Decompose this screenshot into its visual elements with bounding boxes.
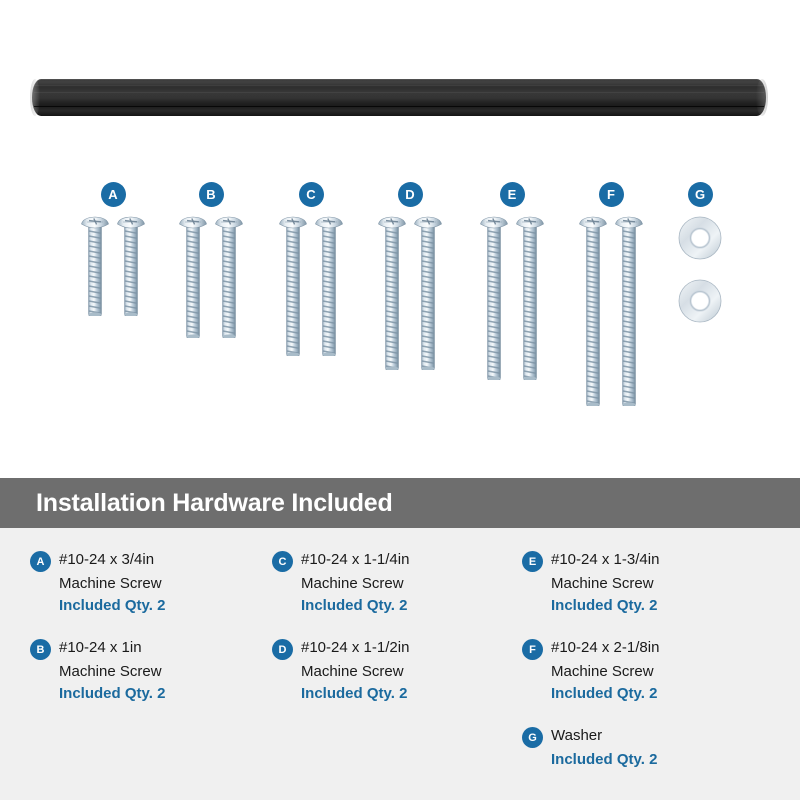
- legend-badge-e: E: [522, 551, 543, 572]
- hardware-parts-row: A: [0, 160, 800, 460]
- screw-pair-e: [462, 215, 562, 385]
- part-badge-a: A: [101, 182, 126, 207]
- legend-badge-g: G: [522, 727, 543, 748]
- legend-badge-c: C: [272, 551, 293, 572]
- washer-icon: [677, 215, 723, 266]
- panel-header: Installation Hardware Included: [0, 478, 800, 528]
- legend-item-head: F#10-24 x 2-1/8in: [522, 638, 777, 660]
- hardware-badge-wrap-d: D: [360, 182, 460, 207]
- hardware-badge-wrap-e: E: [462, 182, 562, 207]
- legend-item-qty: Included Qty. 2: [59, 596, 265, 616]
- bar-highlight-line-top: [34, 85, 764, 86]
- part-badge-d: D: [398, 182, 423, 207]
- part-badge-b: B: [199, 182, 224, 207]
- machine-screw-icon: [614, 215, 644, 411]
- legend-item-d: D#10-24 x 1-1/2inMachine ScrewIncluded Q…: [272, 638, 517, 704]
- legend-item-size: #10-24 x 2-1/8in: [551, 638, 659, 658]
- hardware-badge-wrap-b: B: [161, 182, 261, 207]
- legend-item-g: GWasherIncluded Qty. 2: [522, 726, 777, 770]
- legend-item-head: GWasher: [522, 726, 777, 748]
- legend-badge-d: D: [272, 639, 293, 660]
- legend-item-b: B#10-24 x 1inMachine ScrewIncluded Qty. …: [30, 638, 265, 704]
- screw-pair-d: [360, 215, 460, 375]
- panel-title: Installation Hardware Included: [36, 489, 393, 518]
- machine-screw-icon: [314, 215, 344, 361]
- legend-item-head: B#10-24 x 1in: [30, 638, 265, 660]
- legend-item-head: A#10-24 x 3/4in: [30, 550, 265, 572]
- legend-item-size: #10-24 x 1-1/2in: [301, 638, 409, 658]
- machine-screw-icon: [578, 215, 608, 411]
- installation-hardware-panel: Installation Hardware Included A#10-24 x…: [0, 478, 800, 800]
- hardware-badge-wrap-g: G: [650, 182, 750, 207]
- legend-item-type: Machine Screw: [59, 574, 265, 594]
- washer-icon: [677, 278, 723, 329]
- legend-badge-f: F: [522, 639, 543, 660]
- legend-column-2: C#10-24 x 1-1/4inMachine ScrewIncluded Q…: [272, 550, 517, 726]
- legend-item-head: C#10-24 x 1-1/4in: [272, 550, 517, 572]
- bar-seam-line: [34, 106, 764, 107]
- screw-pair-b: [161, 215, 261, 343]
- legend-item-qty: Included Qty. 2: [301, 596, 517, 616]
- hardware-badge-wrap-f: F: [561, 182, 661, 207]
- panel-body: A#10-24 x 3/4inMachine ScrewIncluded Qty…: [0, 528, 800, 800]
- machine-screw-icon: [278, 215, 308, 361]
- hardware-badge-wrap-c: C: [261, 182, 361, 207]
- machine-screw-icon: [479, 215, 509, 385]
- legend-item-e: E#10-24 x 1-3/4inMachine ScrewIncluded Q…: [522, 550, 777, 616]
- legend-item-qty: Included Qty. 2: [59, 684, 265, 704]
- legend-item-type: Machine Screw: [551, 662, 777, 682]
- legend-item-qty: Included Qty. 2: [551, 596, 777, 616]
- legend-item-type: Machine Screw: [551, 574, 777, 594]
- legend-item-size: #10-24 x 1-1/4in: [301, 550, 409, 570]
- legend-item-type: Machine Screw: [301, 662, 517, 682]
- machine-screw-icon: [413, 215, 443, 375]
- legend-item-c: C#10-24 x 1-1/4inMachine ScrewIncluded Q…: [272, 550, 517, 616]
- legend-badge-a: A: [30, 551, 51, 572]
- machine-screw-icon: [116, 215, 146, 321]
- legend-badge-b: B: [30, 639, 51, 660]
- screw-pair-c: [261, 215, 361, 361]
- machine-screw-icon: [214, 215, 244, 343]
- legend-item-head: D#10-24 x 1-1/2in: [272, 638, 517, 660]
- part-badge-e: E: [500, 182, 525, 207]
- part-badge-c: C: [299, 182, 324, 207]
- machine-screw-icon: [515, 215, 545, 385]
- machine-screw-icon: [178, 215, 208, 343]
- legend-item-head: E#10-24 x 1-3/4in: [522, 550, 777, 572]
- legend-item-type: Machine Screw: [59, 662, 265, 682]
- legend-item-size: #10-24 x 1in: [59, 638, 142, 658]
- legend-column-1: A#10-24 x 3/4inMachine ScrewIncluded Qty…: [30, 550, 265, 726]
- legend-item-size: #10-24 x 1-3/4in: [551, 550, 659, 570]
- bar-highlight-line-mid: [34, 92, 764, 93]
- product-hardware-infographic: A: [0, 0, 800, 800]
- machine-screw-icon: [80, 215, 110, 321]
- legend-item-qty: Included Qty. 2: [551, 684, 777, 704]
- product-image-area: [0, 0, 800, 160]
- legend-column-3: E#10-24 x 1-3/4inMachine ScrewIncluded Q…: [522, 550, 777, 792]
- screw-pair-a: [63, 215, 163, 321]
- legend-item-size: Washer: [551, 726, 602, 746]
- legend-item-a: A#10-24 x 3/4inMachine ScrewIncluded Qty…: [30, 550, 265, 616]
- legend-item-f: F#10-24 x 2-1/8inMachine ScrewIncluded Q…: [522, 638, 777, 704]
- hardware-badge-wrap-a: A: [63, 182, 163, 207]
- part-badge-f: F: [599, 182, 624, 207]
- machine-screw-icon: [377, 215, 407, 375]
- washer-stack-g: [650, 215, 750, 329]
- screw-pair-f: [561, 215, 661, 411]
- part-badge-g: G: [688, 182, 713, 207]
- legend-item-size: #10-24 x 3/4in: [59, 550, 154, 570]
- legend-item-qty: Included Qty. 2: [551, 750, 777, 770]
- legend-item-type: Machine Screw: [301, 574, 517, 594]
- legend-item-qty: Included Qty. 2: [301, 684, 517, 704]
